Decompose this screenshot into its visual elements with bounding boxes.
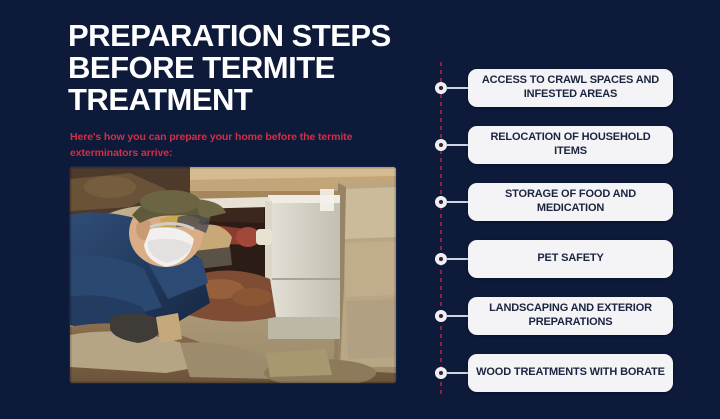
step-pill[interactable]: LANDSCAPING AND EXTERIOR PREPARATIONS [468,297,673,335]
list-item[interactable]: PET SAFETY [430,239,680,279]
step-label: LANDSCAPING AND EXTERIOR PREPARATIONS [476,302,665,330]
step-connector-line [446,144,469,146]
infographic-canvas: PREPARATION STEPS BEFORE TERMITE TREATME… [0,0,720,419]
page-title: PREPARATION STEPS BEFORE TERMITE TREATME… [68,20,418,117]
crawl-space-inspection-photo [70,167,396,383]
step-connector-line [446,315,469,317]
step-connector-line [446,258,469,260]
step-pill[interactable]: STORAGE OF FOOD AND MEDICATION [468,183,673,221]
step-pill[interactable]: PET SAFETY [468,240,673,278]
step-pill[interactable]: RELOCATION OF HOUSEHOLD ITEMS [468,126,673,164]
step-connector-line [446,201,469,203]
step-pill[interactable]: WOOD TREATMENTS WITH BORATE [468,354,673,392]
step-label: ACCESS TO CRAWL SPACES AND INFESTED AREA… [476,74,665,102]
list-item[interactable]: RELOCATION OF HOUSEHOLD ITEMS [430,125,680,165]
step-pill[interactable]: ACCESS TO CRAWL SPACES AND INFESTED AREA… [468,69,673,107]
step-connector-line [446,372,469,374]
step-label: PET SAFETY [537,252,603,266]
page-subtitle: Here's how you can prepare your home bef… [70,129,360,162]
list-item[interactable]: WOOD TREATMENTS WITH BORATE [430,353,680,393]
list-item[interactable]: ACCESS TO CRAWL SPACES AND INFESTED AREA… [430,68,680,108]
header-block: PREPARATION STEPS BEFORE TERMITE TREATME… [68,20,418,161]
list-item[interactable]: STORAGE OF FOOD AND MEDICATION [430,182,680,222]
step-label: RELOCATION OF HOUSEHOLD ITEMS [476,131,665,159]
steps-list: ACCESS TO CRAWL SPACES AND INFESTED AREA… [430,62,680,402]
step-connector-line [446,87,469,89]
list-item[interactable]: LANDSCAPING AND EXTERIOR PREPARATIONS [430,296,680,336]
crawl-space-photo [70,167,396,383]
step-label: STORAGE OF FOOD AND MEDICATION [476,188,665,216]
step-label: WOOD TREATMENTS WITH BORATE [476,366,665,380]
